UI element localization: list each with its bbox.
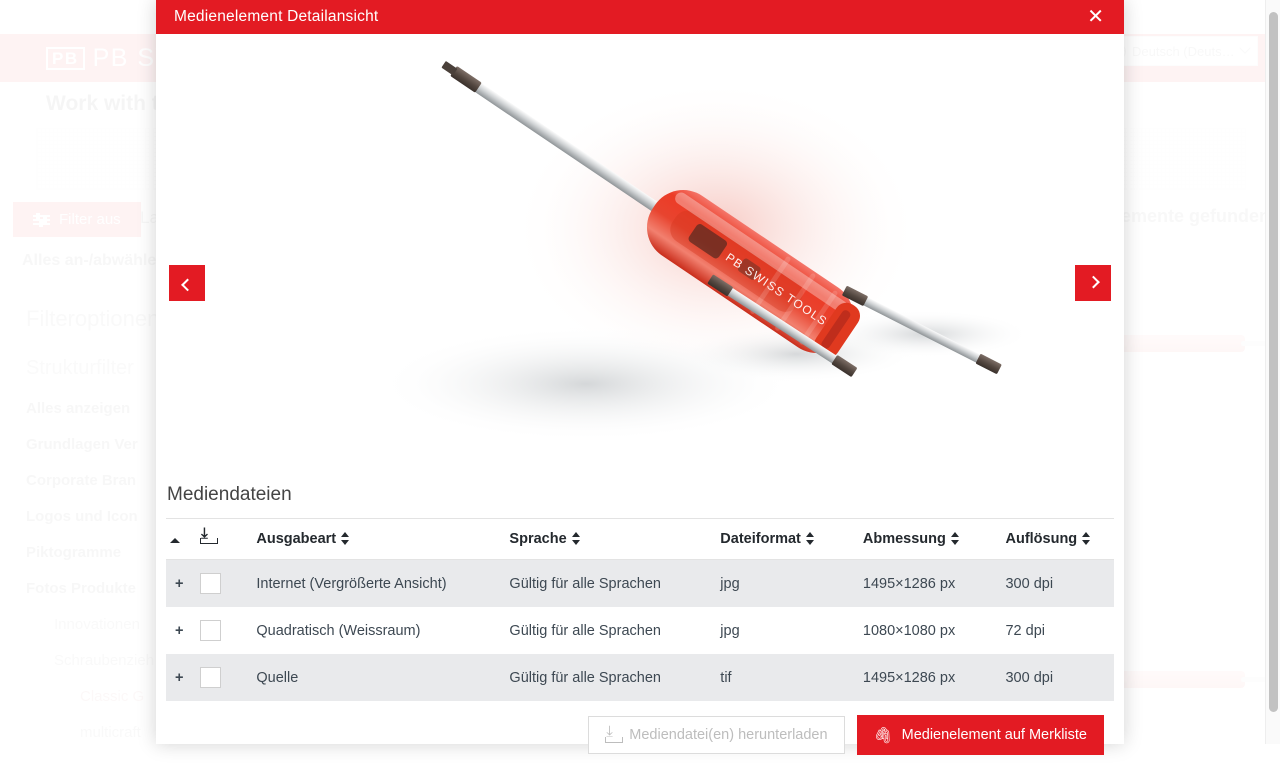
image-viewer: PB SWISS TOOLS [156,34,1124,474]
product-image: PB SWISS TOOLS [156,34,1124,474]
cell-sprache: Gültig für alle Sprachen [505,654,716,701]
row-expand-button[interactable]: + [166,607,196,654]
header-sprache[interactable]: Sprache [505,519,716,560]
sort-icon [572,532,581,545]
header-sprache-label: Sprache [509,531,566,547]
cell-ausgabeart: Quadratisch (Weissraum) [252,607,505,654]
paperclip-icon: 🖇 [872,724,894,746]
row-expand-button[interactable]: + [166,560,196,608]
modal-footer: Mediendatei(en) herunterladen 🖇 Medienel… [166,701,1114,771]
header-ausgabeart-label: Ausgabeart [256,531,336,547]
caret-up-icon [170,538,180,543]
header-ausgabeart[interactable]: Ausgabeart [252,519,505,560]
expand-column-header[interactable] [166,519,196,560]
cell-ausgabeart: Internet (Vergrößerte Ansicht) [252,560,505,608]
row-checkbox-cell[interactable] [196,654,252,701]
close-icon[interactable]: ✕ [1081,5,1110,29]
cell-abmessung: 1495×1286 px [859,560,1002,608]
modal-title: Medienelement Detailansicht [174,8,378,26]
cell-ausgabeart: Quelle [252,654,505,701]
cell-sprache: Gültig für alle Sprachen [505,560,716,608]
sort-icon [806,532,815,545]
header-aufloesung-label: Auflösung [1005,531,1077,547]
download-icon [200,529,216,544]
header-abmessung-label: Abmessung [863,531,946,547]
download-column-header[interactable] [196,519,252,560]
table-row[interactable]: + Internet (Vergrößerte Ansicht) Gültig … [166,560,1114,608]
cell-abmessung: 1495×1286 px [859,654,1002,701]
add-to-watchlist-button[interactable]: 🖇 Medienelement auf Merkliste [857,715,1104,755]
header-dateiformat[interactable]: Dateiformat [716,519,859,560]
row-expand-button[interactable]: + [166,654,196,701]
header-abmessung[interactable]: Abmessung [859,519,1002,560]
row-checkbox-cell[interactable] [196,607,252,654]
download-media-button-label: Mediendatei(en) herunterladen [629,727,827,743]
download-media-button[interactable]: Mediendatei(en) herunterladen [588,716,844,754]
table-row[interactable]: + Quelle Gültig für alle Sprachen tif 14… [166,654,1114,701]
cell-dateiformat: jpg [716,560,859,608]
cell-aufloesung: 300 dpi [1001,560,1114,608]
cell-aufloesung: 72 dpi [1001,607,1114,654]
row-checkbox-cell[interactable] [196,560,252,608]
chevron-right-icon[interactable] [1075,265,1111,301]
download-icon [605,728,621,743]
media-files-table: Ausgabeart Sprache Dateiformat Abmessung… [166,518,1114,701]
header-aufloesung[interactable]: Auflösung [1001,519,1114,560]
sort-icon [1082,532,1091,545]
cell-dateiformat: jpg [716,607,859,654]
cell-abmessung: 1080×1080 px [859,607,1002,654]
media-files-heading: Mediendateien [166,474,1114,518]
media-files-section: Mediendateien Ausgabeart Sprache [156,474,1124,771]
table-header-row: Ausgabeart Sprache Dateiformat Abmessung… [166,519,1114,560]
cell-aufloesung: 300 dpi [1001,654,1114,701]
row-checkbox[interactable] [200,667,221,688]
header-dateiformat-label: Dateiformat [720,531,801,547]
sort-icon [341,532,350,545]
cell-dateiformat: tif [716,654,859,701]
add-to-watchlist-button-label: Medienelement auf Merkliste [902,727,1087,743]
page-scrollbar-thumb[interactable] [1269,12,1278,712]
page-scrollbar[interactable] [1265,0,1280,744]
row-checkbox[interactable] [200,573,221,594]
cell-sprache: Gültig für alle Sprachen [505,607,716,654]
row-checkbox[interactable] [200,620,221,641]
chevron-left-icon[interactable] [169,265,205,301]
sort-icon [951,532,960,545]
media-detail-modal: Medienelement Detailansicht ✕ [156,0,1124,744]
table-row[interactable]: + Quadratisch (Weissraum) Gültig für all… [166,607,1114,654]
modal-header: Medienelement Detailansicht ✕ [156,0,1124,34]
